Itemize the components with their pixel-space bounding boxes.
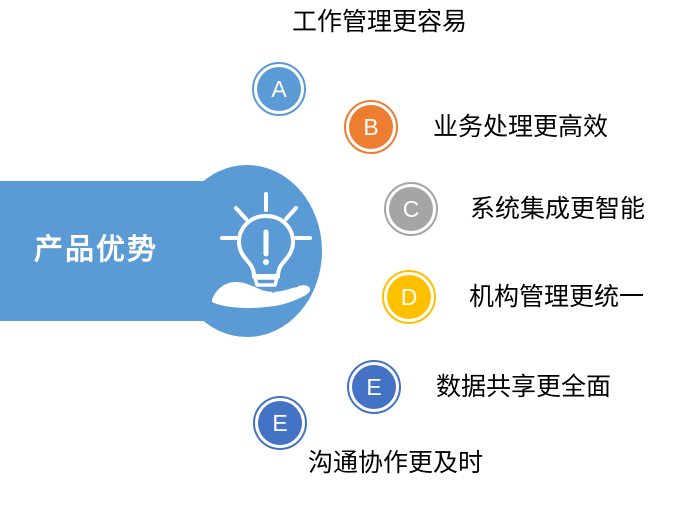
advantage-item-a[interactable]: A 工作管理更容易 <box>252 62 306 116</box>
advantage-label-e: 数据共享更全面 <box>436 372 611 402</box>
circle-badge-f[interactable]: E <box>253 396 307 450</box>
advantage-label-b: 业务处理更高效 <box>433 112 608 142</box>
advantage-label-f: 沟通协作更及时 <box>308 448 483 478</box>
advantage-item-f[interactable]: E 沟通协作更及时 <box>253 396 307 450</box>
circle-badge-d[interactable]: D <box>382 270 436 324</box>
circle-badge-b[interactable]: B <box>344 100 398 154</box>
badge-letter-e: E <box>366 376 381 399</box>
product-advantage-banner: 产品优势 <box>0 160 330 340</box>
banner-title: 产品优势 <box>34 233 214 267</box>
advantage-item-c[interactable]: C 系统集成更智能 <box>384 182 645 236</box>
circle-badge-c[interactable]: C <box>384 182 438 236</box>
advantage-label-a: 工作管理更容易 <box>292 7 467 37</box>
badge-letter-f: E <box>272 412 287 435</box>
badge-letter-b: B <box>363 116 378 139</box>
advantage-item-d[interactable]: D 机构管理更统一 <box>382 270 644 324</box>
circle-badge-a[interactable]: A <box>252 62 306 116</box>
hand-holding-lightbulb-icon <box>210 188 322 310</box>
advantage-label-c: 系统集成更智能 <box>470 194 645 224</box>
advantage-item-b[interactable]: B 业务处理更高效 <box>344 100 608 154</box>
circle-badge-e[interactable]: E <box>347 360 401 414</box>
badge-letter-d: D <box>401 286 418 309</box>
badge-letter-c: C <box>403 198 420 221</box>
advantage-label-d: 机构管理更统一 <box>469 282 644 312</box>
advantage-item-e[interactable]: E 数据共享更全面 <box>347 360 611 414</box>
diagram-canvas: 产品优势 A <box>0 0 673 515</box>
badge-letter-a: A <box>271 78 286 101</box>
